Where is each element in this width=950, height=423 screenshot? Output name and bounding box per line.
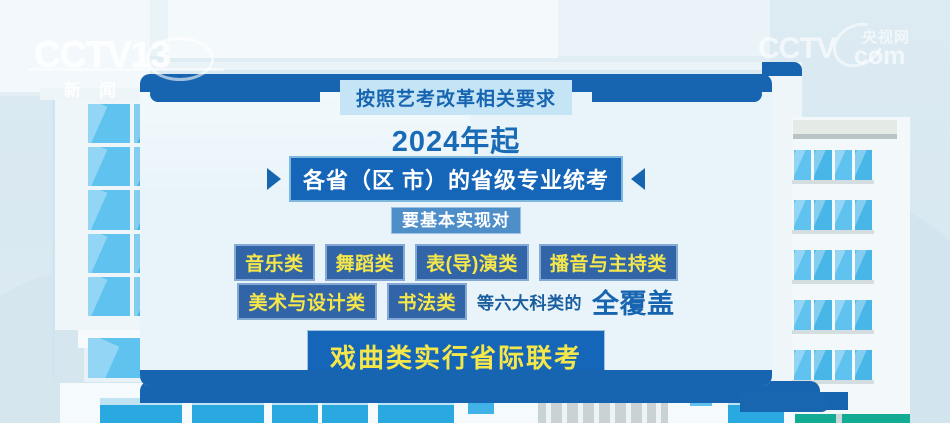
main-statement-box: 各省（区 市）的省级专业统考 [289, 156, 623, 202]
tag-item: 书法类 [387, 283, 468, 320]
bottom-ribbon-tail [740, 392, 830, 412]
tail-large-text: 全覆盖 [592, 282, 675, 321]
year-line: 2024年起 [140, 118, 772, 160]
triangle-right-icon [267, 168, 281, 190]
card-content: 按照艺考改革相关要求 2024年起 各省（区 市）的省级专业统考 要基本实现对 … [140, 92, 772, 370]
info-card: 按照艺考改革相关要求 2024年起 各省（区 市）的省级专业统考 要基本实现对 … [140, 74, 772, 386]
card-bottom-bar [140, 370, 772, 386]
triangle-left-icon [631, 168, 645, 190]
tag-item: 播音与主持类 [539, 244, 678, 281]
tag-item: 美术与设计类 [237, 283, 376, 320]
tag-item: 音乐类 [234, 244, 315, 281]
sub-band-label: 要基本实现对 [391, 207, 521, 234]
tag-item: 表(导)演类 [415, 244, 529, 281]
tag-row-1: 音乐类 舞蹈类 表(导)演类 播音与主持类 [140, 244, 772, 281]
building-center-slab-upper [168, 0, 558, 58]
building-right [762, 62, 910, 423]
main-statement-row: 各省（区 市）的省级专业统考 [140, 156, 772, 202]
sub-band: 要基本实现对 [140, 206, 772, 231]
tail-small-text: 等六大科类的 [477, 289, 582, 314]
broadcast-screen: 按照艺考改革相关要求 2024年起 各省（区 市）的省级专业统考 要基本实现对 … [0, 0, 950, 423]
tag-item: 舞蹈类 [325, 244, 406, 281]
tag-row-2: 美术与设计类 书法类 等六大科类的 全覆盖 [140, 282, 772, 321]
header-band: 按照艺考改革相关要求 [340, 80, 572, 115]
